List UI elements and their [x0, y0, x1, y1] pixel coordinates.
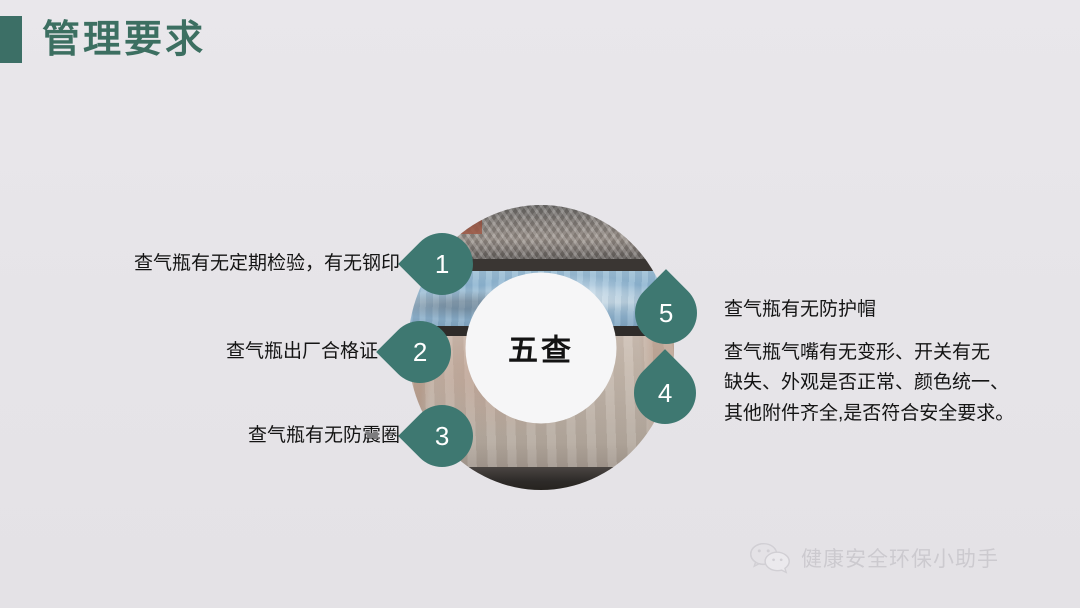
- marker-number-3: 3: [435, 423, 449, 449]
- page-title: 管理要求: [42, 21, 206, 59]
- center-label: 五查: [508, 326, 574, 370]
- callout-text-1: 查气瓶有无定期检验，有无钢印: [40, 249, 400, 279]
- slide-header: 管理要求: [0, 16, 206, 63]
- watermark: 健康安全环保小助手: [748, 541, 999, 575]
- callout-text-4: 查气瓶气嘴有无变形、开关有无 缺失、外观是否正常、颜色统一、 其他附件齐全,是否…: [724, 338, 1040, 429]
- header-accent-bar: [0, 16, 22, 63]
- marker-number-5: 5: [659, 300, 673, 326]
- marker-number-1: 1: [435, 251, 449, 277]
- callout-text-2: 查气瓶出厂合格证: [30, 337, 378, 367]
- marker-number-2: 2: [413, 339, 427, 365]
- slide-canvas: 管理要求 五查 1 查气瓶有无定期检验，有无钢印 2 查气瓶出厂合格证 3 查气…: [0, 0, 1080, 608]
- photo-band-shadow-bottom: [408, 467, 674, 490]
- wechat-icon: [748, 541, 792, 575]
- center-hole: 五查: [466, 272, 617, 423]
- photo-band-rust: [408, 205, 482, 234]
- callout-text-5: 查气瓶有无防护帽: [724, 295, 1034, 325]
- watermark-text: 健康安全环保小助手: [801, 543, 999, 573]
- callout-text-3: 查气瓶有无防震圈: [50, 421, 400, 451]
- marker-number-4: 4: [658, 380, 672, 406]
